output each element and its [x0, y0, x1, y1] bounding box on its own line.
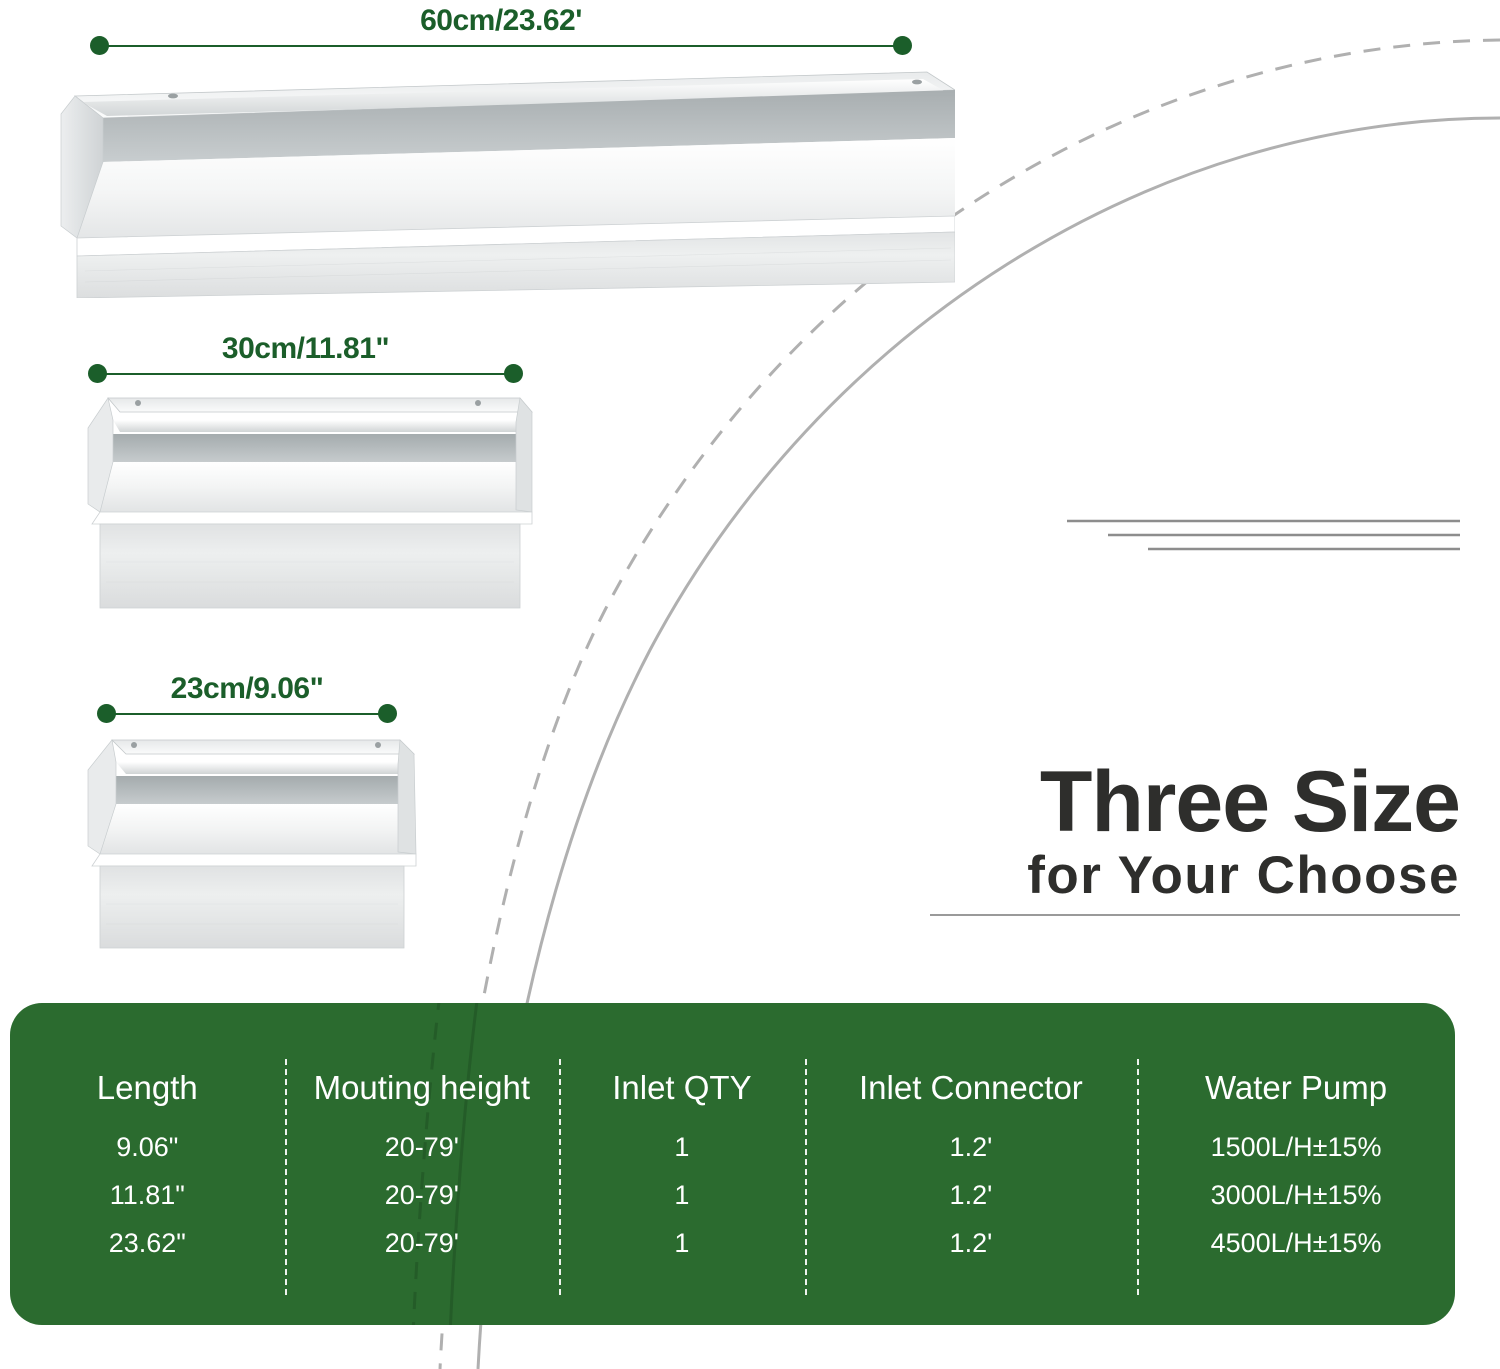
dimension-endpoint-left — [88, 364, 107, 383]
recess-channel — [116, 776, 406, 804]
basin-floor — [100, 462, 532, 512]
column-separator-4 — [1137, 1059, 1139, 1295]
product-unit-large — [55, 66, 955, 298]
headline-secondary: for Your Choose — [930, 844, 1460, 908]
spec-header-mounting-height: Mouting height — [285, 1003, 560, 1111]
cell-water-pump: 3000L/H±15% — [1137, 1171, 1455, 1219]
table-row: 23.62" 20-79' 1 1.2' 4500L/H±15% — [10, 1219, 1455, 1267]
product-unit-small — [82, 732, 442, 960]
screw-hole-right — [375, 742, 381, 748]
dimension-ruler-large: 60cm/23.62' — [90, 4, 912, 58]
cell-mounting-height: 20-79' — [285, 1171, 560, 1219]
headline-primary: Three Size — [930, 760, 1460, 844]
spec-header-inlet-qty: Inlet QTY — [559, 1003, 805, 1111]
cell-length: 9.06" — [10, 1111, 285, 1171]
front-lip — [92, 512, 532, 524]
back-flange — [112, 740, 414, 754]
side-wall-right — [398, 740, 416, 854]
dimension-endpoint-right — [504, 364, 523, 383]
screw-hole-left — [135, 400, 141, 406]
spec-header-length: Length — [10, 1003, 285, 1111]
top-rail — [113, 420, 532, 432]
headline-block: Three Size for Your Choose — [930, 760, 1460, 916]
cell-inlet-qty: 1 — [559, 1111, 805, 1171]
spec-table-panel: Length Mouting height Inlet QTY Inlet Co… — [10, 1003, 1455, 1325]
dimension-line — [97, 373, 514, 375]
table-row: 9.06" 20-79' 1 1.2' 1500L/H±15% — [10, 1111, 1455, 1171]
recess-channel — [113, 434, 525, 462]
spec-header-row: Length Mouting height Inlet QTY Inlet Co… — [10, 1003, 1455, 1111]
cell-inlet-qty: 1 — [559, 1219, 805, 1267]
back-flange — [108, 398, 532, 412]
cell-mounting-height: 20-79' — [285, 1219, 560, 1267]
headline-underline — [930, 914, 1460, 916]
dimension-endpoint-left — [97, 704, 116, 723]
spec-header-water-pump: Water Pump — [1137, 1003, 1455, 1111]
top-rail — [116, 762, 414, 774]
dimension-label-small: 23cm/9.06" — [97, 672, 397, 706]
dimension-bar-large — [90, 36, 912, 56]
dimension-label-large: 60cm/23.62' — [90, 4, 912, 38]
screw-hole-left — [168, 94, 178, 99]
cell-inlet-qty: 1 — [559, 1171, 805, 1219]
spec-header-inlet-connector: Inlet Connector — [805, 1003, 1137, 1111]
dimension-endpoint-left — [90, 36, 109, 55]
cell-inlet-connector: 1.2' — [805, 1111, 1137, 1171]
product-unit-medium — [80, 392, 542, 620]
cell-length: 23.62" — [10, 1219, 285, 1267]
cell-water-pump: 4500L/H±15% — [1137, 1219, 1455, 1267]
column-separator-1 — [285, 1059, 287, 1295]
cell-inlet-connector: 1.2' — [805, 1219, 1137, 1267]
dimension-endpoint-right — [378, 704, 397, 723]
screw-hole-right — [475, 400, 481, 406]
dimension-ruler-small: 23cm/9.06" — [97, 672, 397, 726]
column-separator-3 — [805, 1059, 807, 1295]
front-box — [100, 866, 404, 948]
dimension-ruler-medium: 30cm/11.81" — [88, 332, 523, 386]
decorative-rules — [1067, 521, 1460, 549]
infographic-page: 60cm/23.62' — [0, 0, 1500, 1369]
cell-length: 11.81" — [10, 1171, 285, 1219]
side-wall-right — [516, 398, 532, 512]
cell-mounting-height: 20-79' — [285, 1111, 560, 1171]
dimension-line — [99, 45, 903, 47]
basin-floor — [100, 804, 416, 854]
screw-hole-left — [131, 742, 137, 748]
front-box — [100, 524, 520, 608]
front-lip — [92, 854, 416, 866]
dimension-bar-medium — [88, 364, 523, 384]
cell-inlet-connector: 1.2' — [805, 1171, 1137, 1219]
column-separator-2 — [559, 1059, 561, 1295]
cell-water-pump: 1500L/H±15% — [1137, 1111, 1455, 1171]
dimension-bar-small — [97, 704, 397, 724]
spec-table: Length Mouting height Inlet QTY Inlet Co… — [10, 1003, 1455, 1267]
dimension-endpoint-right — [893, 36, 912, 55]
dimension-line — [106, 713, 388, 715]
dimension-label-medium: 30cm/11.81" — [88, 332, 523, 366]
screw-hole-right — [912, 80, 922, 85]
table-row: 11.81" 20-79' 1 1.2' 3000L/H±15% — [10, 1171, 1455, 1219]
